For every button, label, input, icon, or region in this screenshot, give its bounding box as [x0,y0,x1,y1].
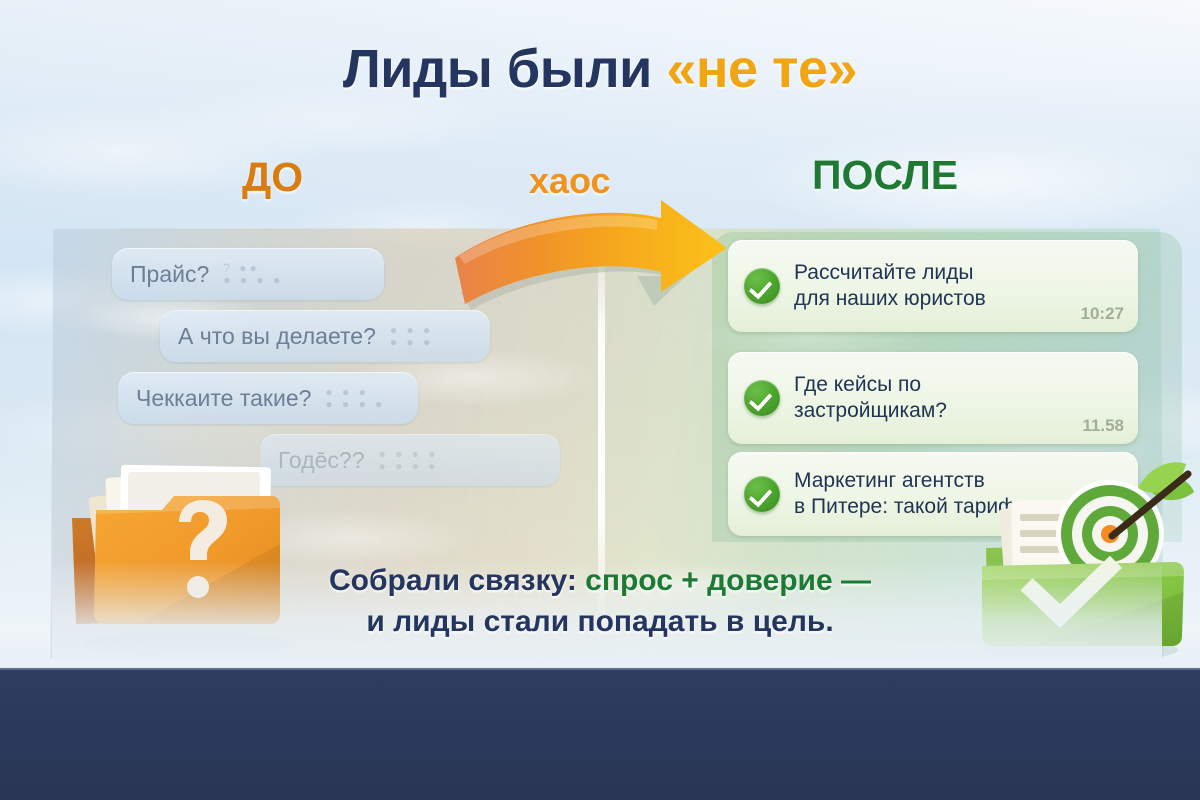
title-part-amber: «не те» [666,39,857,99]
caption-line1-green: спрос + доверие — [585,564,871,597]
title-part-navy: Лиды были [343,39,666,99]
after-message-line2: застройщикам? [794,398,1124,424]
list-item: Прайс? ? ●●● ● ● ● [112,248,384,300]
page-title: Лиды были «не те» [0,38,1200,100]
after-message-body: Рассчитайте лиды для наших юристов [794,260,1124,311]
caption-line1-navy: Собрали связку: [329,564,585,597]
heading-chaos: хаос [529,160,611,202]
curved-arrow-icon [455,200,745,330]
typing-dots-icon: ● ● ●● ● ● [390,324,433,348]
check-circle-icon [744,476,780,512]
after-message-body: Где кейсы по застройщикам? [794,372,1124,423]
summary-caption: Собрали связку: спрос + доверие — и лиды… [0,560,1200,643]
list-item: Рассчитайте лиды для наших юристов 10:27 [728,240,1138,332]
after-message-line2: для наших юристов [794,286,1124,312]
before-message-text: Прайс? [130,261,209,288]
bottom-bar [0,668,1200,800]
list-item: А что вы делаете? ● ● ●● ● ● [160,310,490,362]
before-message-text: А что вы делаете? [178,323,376,350]
list-item: Где кейсы по застройщикам? 11.58 [728,352,1138,444]
list-item: Чеккаите такие? ● ● ●● ● ● ● [118,372,418,424]
before-message-text: Чеккаите такие? [136,385,311,412]
message-timestamp: 11.58 [1082,416,1124,436]
after-message-line1: Где кейсы по [794,372,1124,398]
caption-line-2: и лиды стали попадать в цель. [0,601,1200,642]
check-circle-icon [744,380,780,416]
typing-dots-icon: ? ●●● ● ● ● [223,262,283,286]
heading-after: ПОСЛЕ [812,152,958,199]
infographic-canvas: Лиды были «не те» ДО хаос ПОСЛЕ Прайс? ?… [0,0,1200,800]
check-circle-icon [744,268,780,304]
heading-before: ДО [242,154,303,201]
message-timestamp: 10:27 [1081,304,1124,324]
after-message-line1: Рассчитайте лиды [794,260,1124,286]
caption-line-1: Собрали связку: спрос + доверие — [0,560,1200,601]
typing-dots-icon: ● ● ● ●● ● ● ● [379,448,439,472]
typing-dots-icon: ● ● ●● ● ● ● [325,386,385,410]
